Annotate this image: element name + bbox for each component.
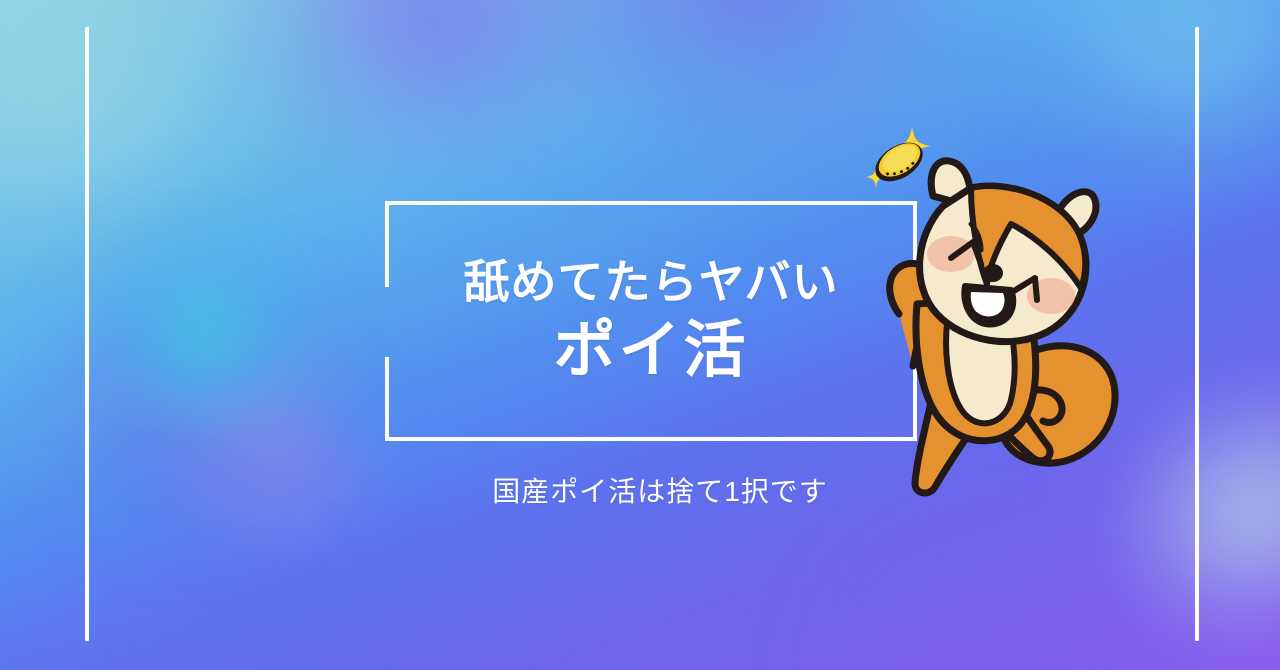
promo-banner: 舐めてたらヤバい ポイ活 国産ポイ活は捨て1択です [0,0,1280,670]
side-rule-right [1195,27,1199,641]
chipmunk-mascot [855,118,1125,498]
subtitle-text: 国産ポイ活は捨て1択です [452,470,828,510]
headline-line-1: 舐めてたらヤバい [463,255,838,309]
headline-block: 舐めてたらヤバい ポイ活 [385,201,917,441]
mascot-nose [983,264,1003,282]
side-rule-left [85,27,89,641]
headline-line-2: ポイ活 [553,314,748,387]
mascot-blush-left [927,236,975,272]
